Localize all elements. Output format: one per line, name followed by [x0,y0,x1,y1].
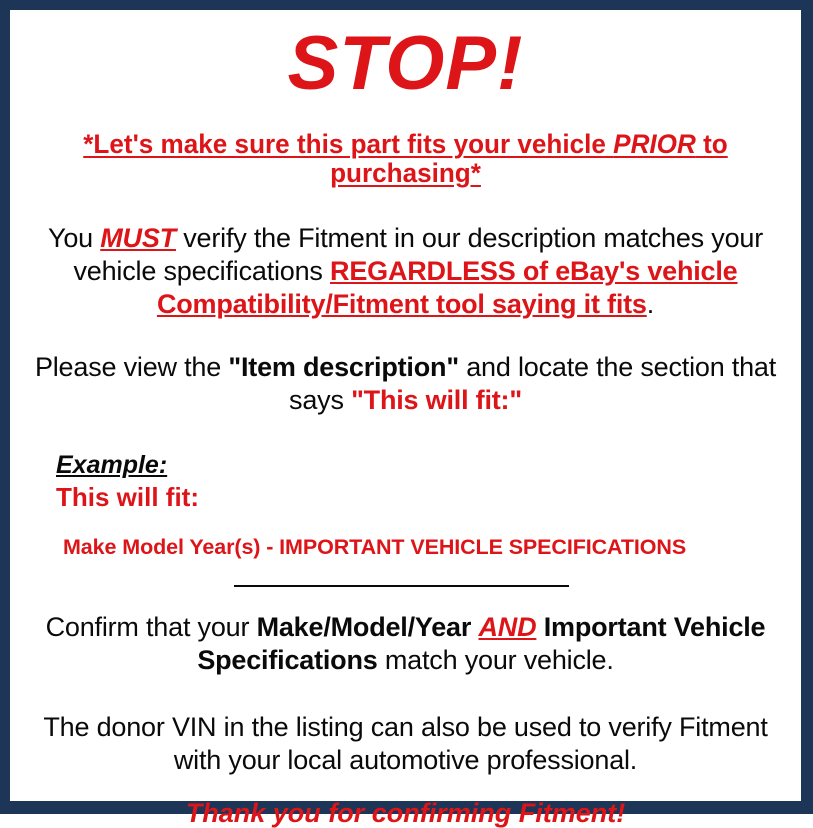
this-will-fit-quote: "This will fit:" [351,385,522,415]
paragraph-item-description: Please view the "Item description" and l… [18,321,793,417]
example-fit-heading: This will fit: [56,480,793,513]
make-model-year-emphasis: Make/Model/Year [257,612,472,642]
tagline: *Let's make sure this part fits your veh… [24,102,787,188]
tagline-prefix: *Let's make sure this part fits your veh… [83,129,613,159]
fitment-notice-body: STOP! *Let's make sure this part fits yo… [10,10,801,801]
example-label: Example: [56,451,167,480]
paragraph-donor-vin: The donor VIN in the listing can also be… [18,677,793,777]
fitment-notice-frame: STOP! *Let's make sure this part fits yo… [0,0,813,814]
divider-row [18,560,793,587]
paragraph-confirm: Confirm that your Make/Model/Year AND Im… [18,587,793,677]
must-para-part-1: You [48,223,100,253]
desc-para-part-1: Please view the [35,352,228,382]
example-block: Example: This will fit: Make Model Year(… [18,417,793,560]
tagline-emphasis-prior: PRIOR [613,129,696,159]
thank-you-line: Thank you for confirming Fitment! [18,777,793,828]
confirm-part-1: Confirm that your [46,612,257,642]
must-para-part-3: . [647,289,654,319]
item-description-quote: "Item description" [228,352,459,382]
example-spec-line: Make Model Year(s) - IMPORTANT VEHICLE S… [56,513,793,560]
and-emphasis: AND [479,612,537,642]
must-emphasis: MUST [100,223,176,253]
confirm-space-2 [536,612,543,642]
stop-headline: STOP! [18,10,793,102]
horizontal-divider [234,585,569,587]
paragraph-must-verify: You MUST verify the Fitment in our descr… [18,188,793,321]
confirm-space-1 [471,612,478,642]
example-label-row: Example: [56,451,793,480]
confirm-part-2: match your vehicle. [378,645,614,675]
